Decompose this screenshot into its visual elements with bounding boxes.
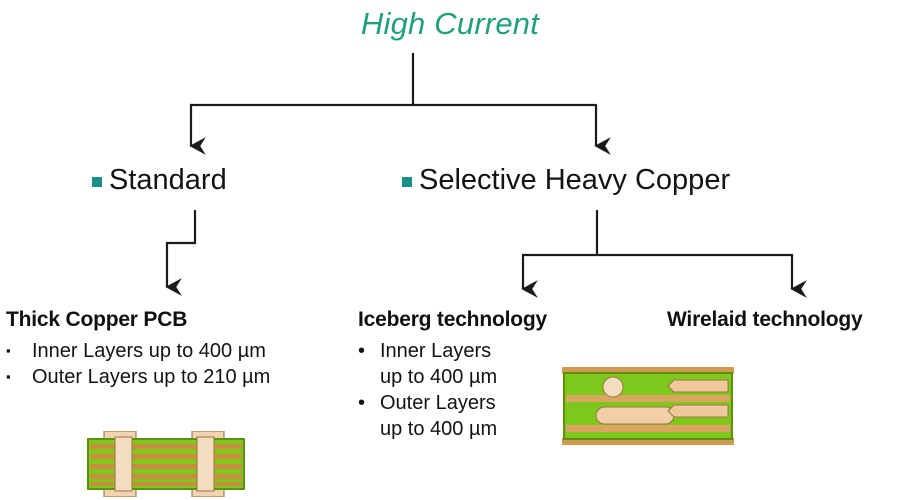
node-iceberg-technology: Iceberg technology • Inner Layers up to … (358, 308, 547, 442)
square-bullet-icon: ▪ (6, 364, 32, 390)
node-standard: Standard (92, 164, 227, 197)
node-selective-heavy-copper-label: Selective Heavy Copper (419, 164, 730, 197)
diagram-title: High Current (0, 6, 900, 42)
node-standard-label: Standard (109, 164, 227, 197)
list-item: ▪ Outer Layers up to 210 µm (6, 364, 270, 390)
list-item-label: Inner Layers up to 400 µm (32, 338, 266, 364)
node-thick-copper-pcb-heading: Thick Copper PCB (6, 308, 270, 332)
thick-copper-pcb-bullet-list: ▪ Inner Layers up to 400 µm ▪ Outer Laye… (6, 338, 270, 390)
round-bullet-icon: • (358, 390, 380, 442)
connector-arrow-thick-copper-pcb (167, 210, 195, 287)
list-item-label: Outer Layers up to 400 µm (380, 390, 497, 442)
square-bullet-icon: ▪ (6, 338, 32, 364)
list-item: • Inner Layers up to 400 µm (358, 338, 547, 390)
list-item-label: Inner Layers up to 400 µm (380, 338, 497, 390)
iceberg-technology-bullet-list: • Inner Layers up to 400 µm • Outer Laye… (358, 338, 547, 442)
node-wirelaid-technology-heading: Wirelaid technology (667, 308, 863, 332)
list-item: • Outer Layers up to 400 µm (358, 390, 547, 442)
round-bullet-icon: • (358, 338, 380, 390)
list-item: ▪ Inner Layers up to 400 µm (6, 338, 270, 364)
diagram-canvas: High Current Standard Selective Heavy Co… (0, 0, 900, 500)
pcb-cross-section-thick-copper-image (84, 431, 248, 497)
node-wirelaid-technology: Wirelaid technology (667, 308, 863, 332)
node-iceberg-technology-heading: Iceberg technology (358, 308, 547, 332)
node-thick-copper-pcb: Thick Copper PCB ▪ Inner Layers up to 40… (6, 308, 270, 390)
list-item-label: Outer Layers up to 210 µm (32, 364, 270, 390)
square-bullet-icon (92, 177, 102, 187)
pcb-cross-section-iceberg-image (556, 363, 740, 449)
node-selective-heavy-copper: Selective Heavy Copper (402, 164, 730, 197)
square-bullet-icon (402, 177, 412, 187)
